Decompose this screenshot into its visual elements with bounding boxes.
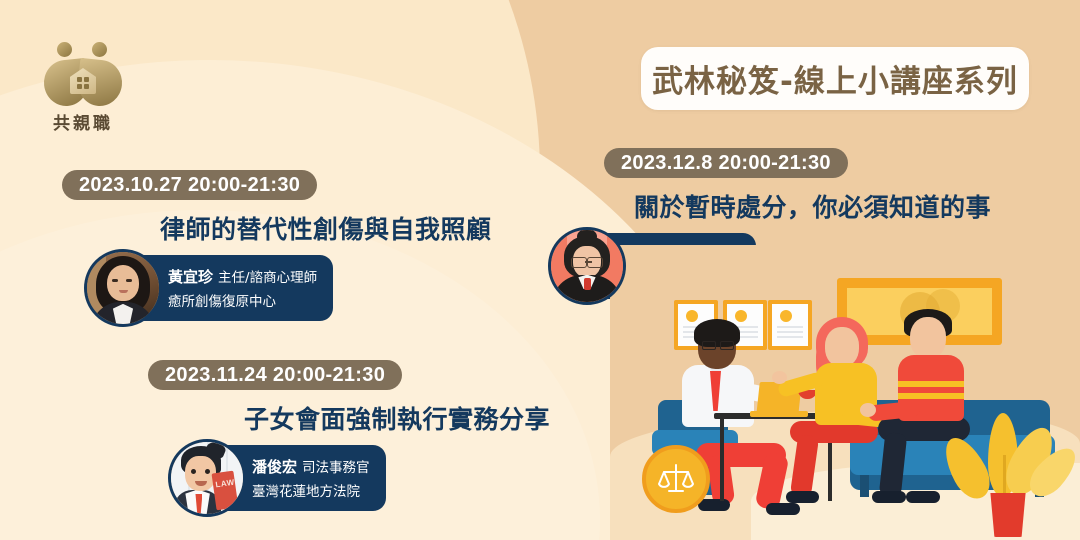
session-card-3: 2023.11.24 20:00-21:30 子女會面強制執行實務分享 LAW … [148, 360, 550, 511]
plant-pot-icon [988, 493, 1028, 537]
session-1-speaker: 黃宜珍主任/諮商心理師 癒所創傷復原中心 [84, 255, 492, 321]
session-1-speaker-org: 癒所創傷復原中心 [168, 290, 317, 310]
organization-name: 共親職 [28, 109, 138, 134]
poster-title: 武林秘笈-線上小講座系列 [652, 56, 1018, 101]
session-2-date-badge: 2023.12.8 20:00-21:30 [604, 148, 848, 178]
organization-logo: 共親職 [28, 42, 138, 134]
session-3-speaker: LAW 潘俊宏司法事務官 臺灣花蓮地方法院 [168, 445, 550, 511]
session-3-title: 子女會面強制執行實務分享 [244, 400, 550, 436]
poster-canvas: 共親職 武林秘笈-線上小講座系列 2023.10.27 20:00-21:30 … [0, 0, 1080, 540]
session-1-date-badge: 2023.10.27 20:00-21:30 [62, 170, 317, 200]
logo-head-left-icon [57, 42, 72, 57]
session-3-speaker-name: 潘俊宏 [252, 458, 297, 476]
justice-coin-icon [642, 445, 710, 513]
speaker-photo-avatar [84, 249, 162, 327]
session-1-title: 律師的替代性創傷與自我照顧 [160, 210, 492, 246]
logo-head-right-icon [92, 42, 107, 57]
session-1-speaker-name: 黃宜珍 [168, 268, 213, 286]
session-3-speaker-name-line: 潘俊宏司法事務官 [252, 456, 370, 477]
session-3-date-badge: 2023.11.24 20:00-21:30 [148, 360, 402, 390]
session-3-speaker-role: 司法事務官 [302, 460, 370, 476]
poster-title-banner: 武林秘笈-線上小講座系列 [641, 47, 1029, 110]
session-card-1: 2023.10.27 20:00-21:30 律師的替代性創傷與自我照顧 黃宜珍… [62, 170, 492, 321]
house-people-logo-icon [44, 42, 122, 104]
certificate-frame-icon [768, 300, 812, 350]
session-1-speaker-role: 主任/諮商心理師 [218, 270, 317, 286]
legal-consultation-illustration [610, 245, 1080, 540]
session-2-title: 關於暫時處分，你必須知道的事 [634, 188, 991, 224]
logo-window-icon [77, 77, 89, 89]
session-1-speaker-name-line: 黃宜珍主任/諮商心理師 [168, 266, 317, 287]
session-3-speaker-org: 臺灣花蓮地方法院 [252, 480, 370, 500]
law-officer-illustration-avatar: LAW [168, 439, 246, 517]
judge-illustration-avatar [548, 227, 626, 305]
